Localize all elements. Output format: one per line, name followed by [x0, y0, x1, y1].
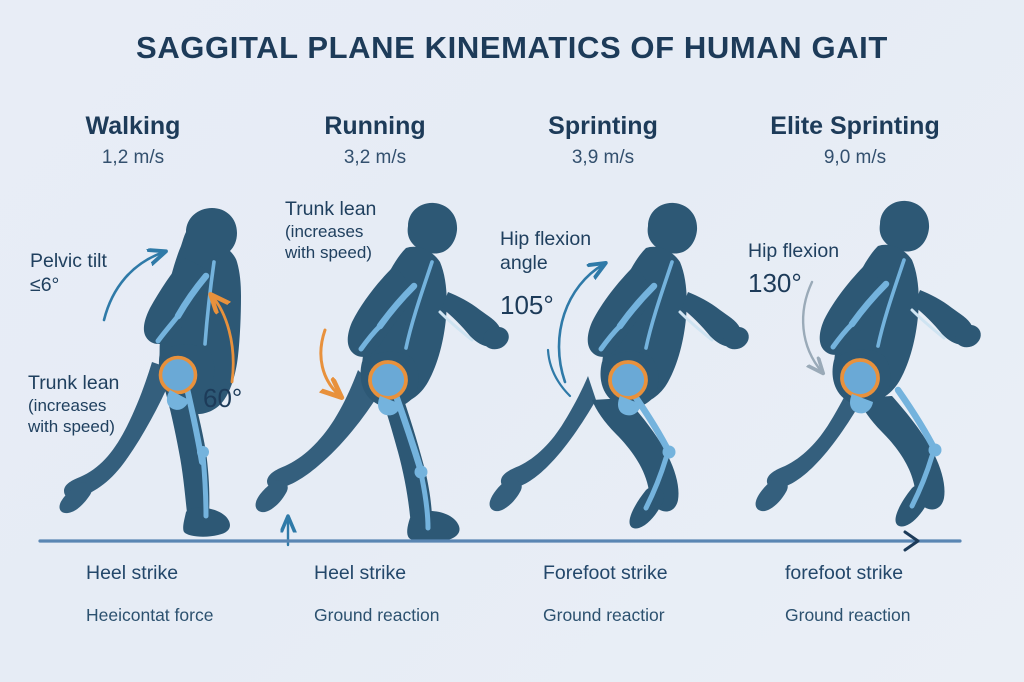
walking-bone-humerus [178, 276, 206, 316]
hip-flexion-3-line2: angle [500, 252, 591, 276]
elite-knee-joint [929, 444, 942, 457]
running-rear-foot [256, 481, 288, 513]
running-arm-front [442, 292, 502, 347]
pelvic-tilt-arrow [104, 252, 164, 320]
caption-running: Heel strike Ground reaction [314, 562, 440, 626]
caption-elite-strike: forefoot strike [785, 562, 911, 585]
sprinting-rear-foot [490, 479, 522, 511]
caption-walking: Heel strike Heeicontat force [86, 562, 213, 626]
running-fist [480, 323, 512, 353]
column-heading-sprinting: Sprinting 3,9 m/s [478, 112, 728, 169]
elite-rear-foot [756, 479, 788, 511]
caption-sprinting-force: Ground reactior [543, 605, 668, 626]
elite-hip-neck [850, 394, 873, 413]
running-rear-leg [267, 370, 380, 489]
column-name-walking: Walking [8, 112, 258, 142]
sprinting-hip-joint [610, 362, 646, 398]
sprinting-arm-back [588, 266, 654, 357]
elite-front-foot [895, 485, 930, 527]
caption-elite-force: Ground reaction [785, 605, 911, 626]
running-bone-spine [406, 262, 432, 348]
walking-bone-spine [205, 262, 214, 344]
walking-arm-back [144, 258, 212, 344]
caption-elite-sprinting: forefoot strike Ground reaction [785, 562, 911, 626]
elite-bone-arm-accent [912, 310, 944, 338]
running-hip-joint [370, 362, 406, 398]
trunk-lean-2-line3: with speed) [285, 243, 376, 264]
annotation-hip-flexion-elite: Hip flexion 130° [748, 240, 839, 300]
hip-flexion-4-value: 130° [748, 268, 839, 300]
walking-bone-tibia [203, 456, 206, 516]
column-name-elite-sprinting: Elite Sprinting [730, 112, 980, 142]
running-head [408, 203, 457, 254]
hip-flexion-3-line1: Hip flexion [500, 228, 591, 252]
caption-sprinting: Forefoot strike Ground reactior [543, 562, 668, 626]
walking-knee-joint [197, 446, 209, 458]
running-bone-tibia [422, 478, 428, 528]
running-bone-forearm [361, 326, 380, 349]
running-front-foot [407, 511, 459, 542]
annotation-pelvic-tilt: Pelvic tilt ≤6° [30, 250, 107, 298]
running-pelvis [361, 352, 419, 408]
walking-bone-forearm [158, 316, 178, 341]
column-name-running: Running [250, 112, 500, 142]
trunk-lean-1-line2: (increases [28, 396, 119, 417]
column-heading-running: Running 3,2 m/s [250, 112, 500, 169]
caption-walking-force: Heeicontat force [86, 605, 213, 626]
angle-60-value: 60° [203, 383, 242, 415]
annotation-angle-60: 60° [203, 383, 242, 415]
elite-front-leg [858, 396, 945, 510]
sprinting-bone-femur [632, 392, 670, 454]
elite-torso [834, 245, 919, 403]
sprinting-knee-joint [663, 446, 676, 459]
elite-head [880, 201, 929, 252]
walking-rear-foot [59, 483, 91, 514]
pelvic-tilt-line2: ≤6° [30, 274, 107, 298]
sprinting-bone-tibia [646, 458, 666, 508]
sprinting-rear-leg [501, 376, 596, 489]
walking-hip-neck [167, 390, 189, 410]
caption-running-force: Ground reaction [314, 605, 440, 626]
column-speed-elite-sprinting: 9,0 m/s [730, 147, 980, 170]
elite-bone-tibia [912, 456, 932, 506]
sprinting-front-leg [592, 398, 679, 512]
ground-line-direction-arrow [905, 532, 918, 550]
running-front-leg [381, 396, 432, 531]
column-heading-walking: Walking 1,2 m/s [8, 112, 258, 169]
running-torso [362, 247, 447, 405]
trunk-lean-1-line3: with speed) [28, 417, 119, 438]
caption-running-strike: Heel strike [314, 562, 440, 585]
trunk-lean-1-line1: Trunk lean [28, 372, 119, 396]
running-knee-joint [415, 466, 428, 479]
annotation-hip-flexion-sprinting: Hip flexion angle 105° [500, 228, 591, 321]
hip-flexion-4-line1: Hip flexion [748, 240, 839, 264]
running-arm-back [348, 266, 414, 357]
walking-hip-joint [161, 358, 196, 393]
sprinting-front-foot [629, 487, 664, 529]
sprinting-head [648, 203, 697, 254]
sprinting-fist [720, 323, 752, 353]
pelvic-tilt-line1: Pelvic tilt [30, 250, 107, 274]
elite-pelvis [833, 350, 891, 406]
sprinting-arm-front [682, 292, 742, 347]
walking-bone-femur [186, 384, 202, 462]
elite-bone-spine [878, 260, 904, 346]
sprinting-bone-arm-accent [680, 312, 712, 340]
column-heading-elite-sprinting: Elite Sprinting 9,0 m/s [730, 112, 980, 169]
sprinting-torso [602, 247, 687, 405]
sprinting-pelvis [601, 352, 659, 408]
elite-bone-forearm [833, 324, 852, 347]
sprinting-bone-forearm [601, 326, 620, 349]
running-hip-neck [378, 396, 401, 415]
elite-fist [952, 321, 984, 351]
column-speed-running: 3,2 m/s [250, 147, 500, 170]
walking-front-foot [183, 508, 230, 537]
trunk-lean-2-line1: Trunk lean [285, 198, 376, 222]
column-speed-sprinting: 3,9 m/s [478, 147, 728, 170]
running-bone-arm-accent [440, 312, 472, 340]
sprinting-bone-humerus [620, 286, 654, 326]
sprinting-hip-flexion-arc-tail [548, 350, 570, 396]
caption-sprinting-strike: Forefoot strike [543, 562, 668, 585]
elite-hip-joint [842, 360, 878, 396]
column-name-sprinting: Sprinting [478, 112, 728, 142]
column-speed-walking: 1,2 m/s [8, 147, 258, 170]
caption-walking-strike: Heel strike [86, 562, 213, 585]
running-bone-femur [394, 390, 422, 474]
elite-bone-femur [898, 390, 936, 452]
annotation-trunk-lean-running: Trunk lean (increases with speed) [285, 198, 376, 263]
infographic-canvas: SAGGITAL PLANE KINEMATICS OF HUMAN GAIT … [0, 0, 1024, 682]
running-trunk-lean-arrow [321, 330, 340, 396]
trunk-lean-2-line2: (increases [285, 222, 376, 243]
annotation-trunk-lean-walking: Trunk lean (increases with speed) [28, 372, 119, 437]
elite-bone-humerus [852, 284, 886, 324]
elite-arm-front [914, 290, 974, 345]
sprinting-bone-spine [646, 262, 672, 348]
page-title: SAGGITAL PLANE KINEMATICS OF HUMAN GAIT [0, 30, 1024, 66]
elite-rear-leg [767, 376, 862, 489]
hip-flexion-3-value: 105° [500, 290, 591, 322]
sprinting-hip-neck [618, 396, 641, 415]
running-bone-humerus [380, 286, 414, 326]
angle-60-arrow [212, 296, 233, 382]
